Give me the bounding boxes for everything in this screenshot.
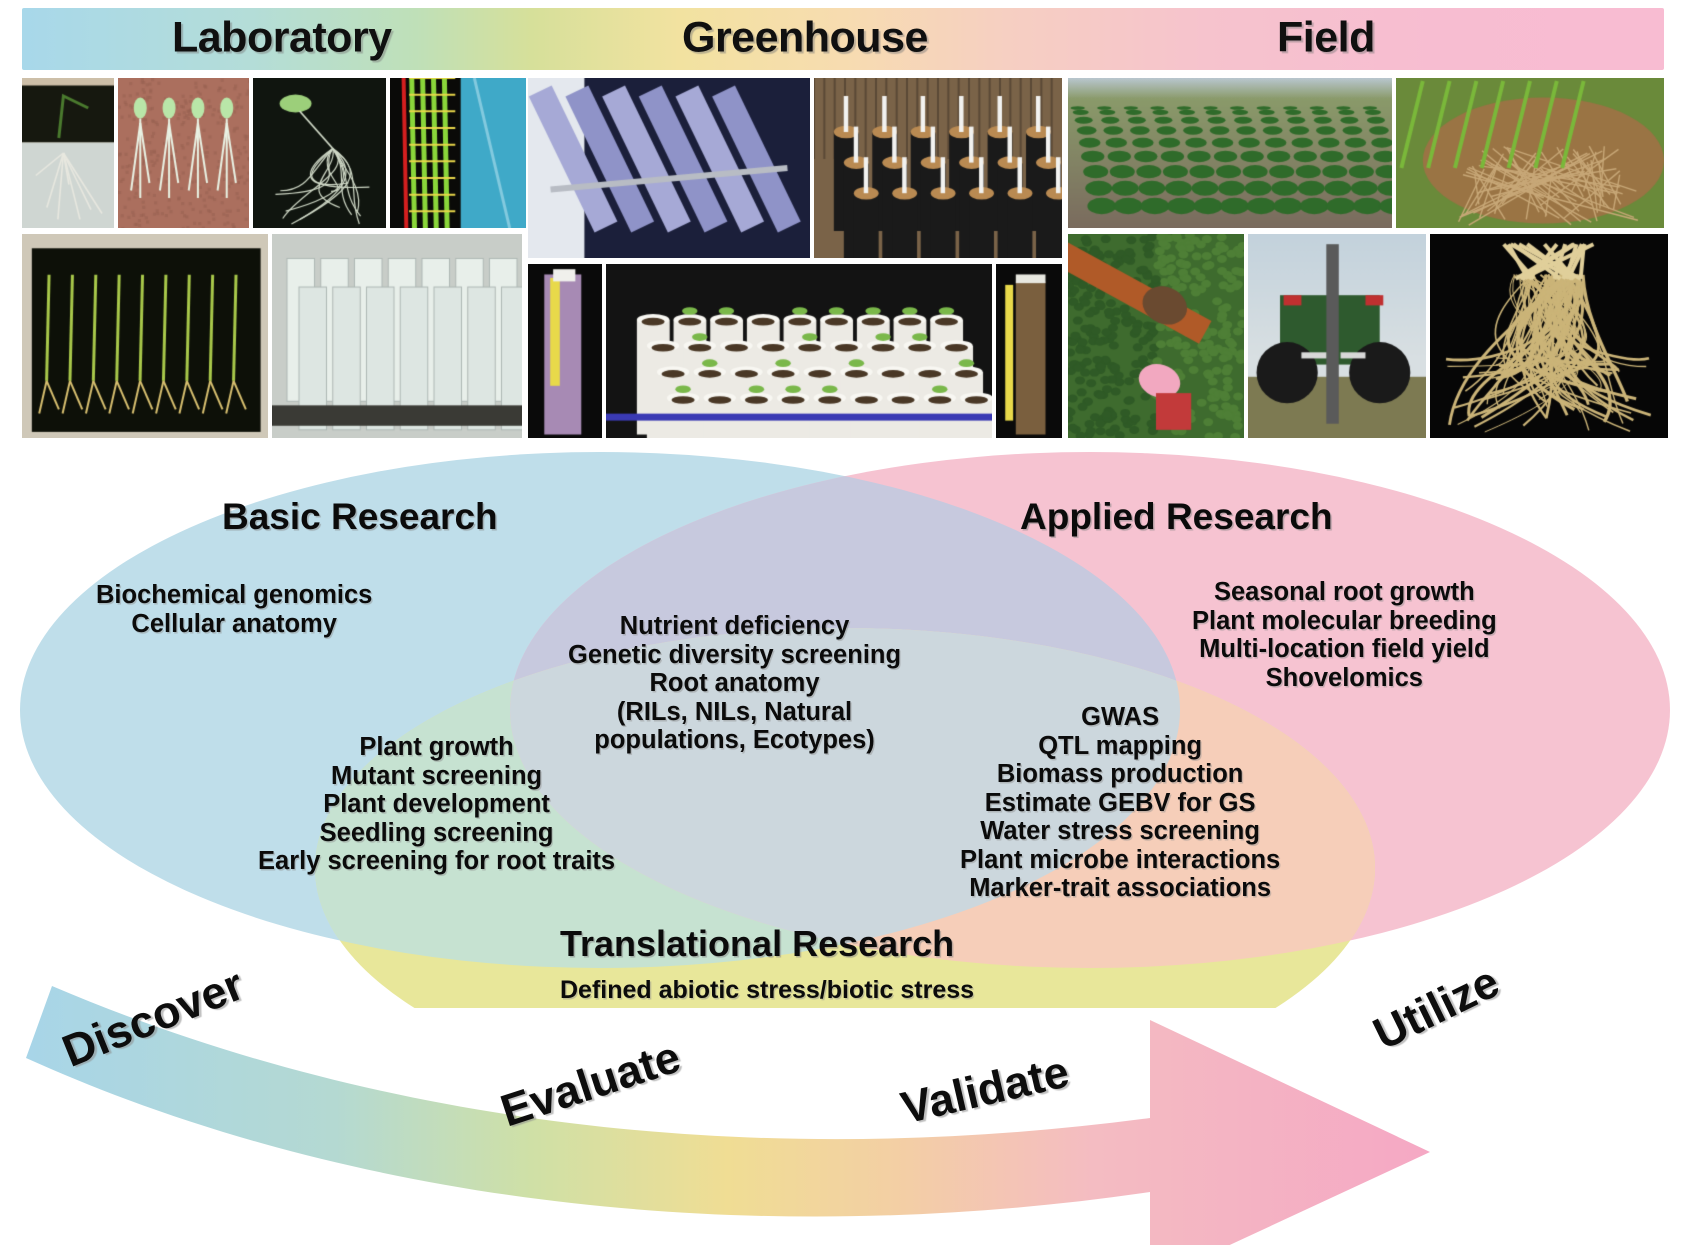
list-line: Plant microbe interactions	[960, 846, 1280, 875]
photo-shovel-digging-root-sample	[1068, 234, 1244, 438]
photo-white-pvc-column-array	[606, 264, 992, 438]
banner-label-laboratory: Laboratory	[172, 14, 392, 63]
photo-excavated-root-crown-soil	[1396, 78, 1664, 228]
venn-list-applied: Seasonal root growthPlant molecular bree…	[1192, 578, 1497, 692]
photo-panel-field	[1068, 78, 1664, 438]
list-line: Biochemical genomics	[96, 581, 372, 610]
list-line: Plant growth	[258, 733, 615, 762]
photo-blue-root-tubes-on-rack	[528, 78, 810, 258]
arrow-shape	[26, 986, 1430, 1245]
venn-title-applied: Applied Research	[1020, 498, 1333, 536]
venn-title-basic: Basic Research	[222, 498, 498, 536]
figure-root: Laboratory Greenhouse Field	[0, 0, 1686, 1245]
process-arrow: Discover Evaluate Validate Utilize	[0, 930, 1686, 1245]
environment-banner: Laboratory Greenhouse Field	[22, 8, 1664, 70]
banner-label-greenhouse: Greenhouse	[682, 14, 928, 63]
venn-list-applied-translational: GWASQTL mappingBiomass productionEstimat…	[960, 703, 1280, 903]
photo-seedlings-on-agar-plate	[22, 234, 268, 438]
list-line: GWAS	[960, 703, 1280, 732]
photo-washed-root-crown-black-bg	[1430, 234, 1668, 438]
venn-list-basic: Biochemical genomicsCellular anatomy	[96, 581, 372, 638]
venn-list-center: Nutrient deficiencyGenetic diversity scr…	[568, 612, 901, 755]
photo-purple-tube-with-ruler	[528, 264, 602, 438]
list-line: Early screening for root traits	[258, 847, 615, 876]
list-line: Estimate GEBV for GS	[960, 789, 1280, 818]
photo-fluorescent-root-confocal	[390, 78, 526, 228]
list-line: Seedling screening	[258, 819, 615, 848]
list-line: (RILs, NILs, Natural	[568, 698, 901, 727]
list-line: Shovelomics	[1192, 664, 1497, 693]
photo-germinating-seeds-on-paper	[118, 78, 249, 228]
list-line: QTL mapping	[960, 732, 1280, 761]
list-line: Plant development	[258, 790, 615, 819]
photo-test-tube-rack-culture	[272, 234, 522, 438]
list-line: Mutant screening	[258, 762, 615, 791]
photo-black-pots-with-labels	[814, 78, 1062, 258]
photo-panel-greenhouse	[528, 78, 1062, 438]
venn-list-basic-translational: Plant growthMutant screeningPlant develo…	[258, 733, 615, 876]
list-line: Genetic diversity screening	[568, 641, 901, 670]
list-line: Water stress screening	[960, 817, 1280, 846]
list-line: Plant molecular breeding	[1192, 607, 1497, 636]
list-line: Root anatomy	[568, 669, 901, 698]
venn-diagram: Basic Research Applied Research Translat…	[0, 448, 1686, 1008]
photo-arabidopsis-root-system-dark	[253, 78, 386, 228]
photo-tractor-mounted-soil-corer	[1248, 234, 1426, 438]
list-line: Seasonal root growth	[1192, 578, 1497, 607]
photo-panel-laboratory	[22, 78, 522, 438]
photo-soil-core-with-ruler	[996, 264, 1062, 438]
banner-label-field: Field	[1277, 14, 1375, 63]
list-line: Biomass production	[960, 760, 1280, 789]
list-line: Marker-trait associations	[960, 874, 1280, 903]
list-line: Nutrient deficiency	[568, 612, 901, 641]
list-line: Cellular anatomy	[96, 610, 372, 639]
list-line: populations, Ecotypes)	[568, 726, 901, 755]
list-line: Multi-location field yield	[1192, 635, 1497, 664]
photo-field-plot-rows-aerial	[1068, 78, 1392, 228]
photo-strip	[22, 78, 1664, 438]
photo-seedling-in-gel-tube	[22, 78, 114, 228]
